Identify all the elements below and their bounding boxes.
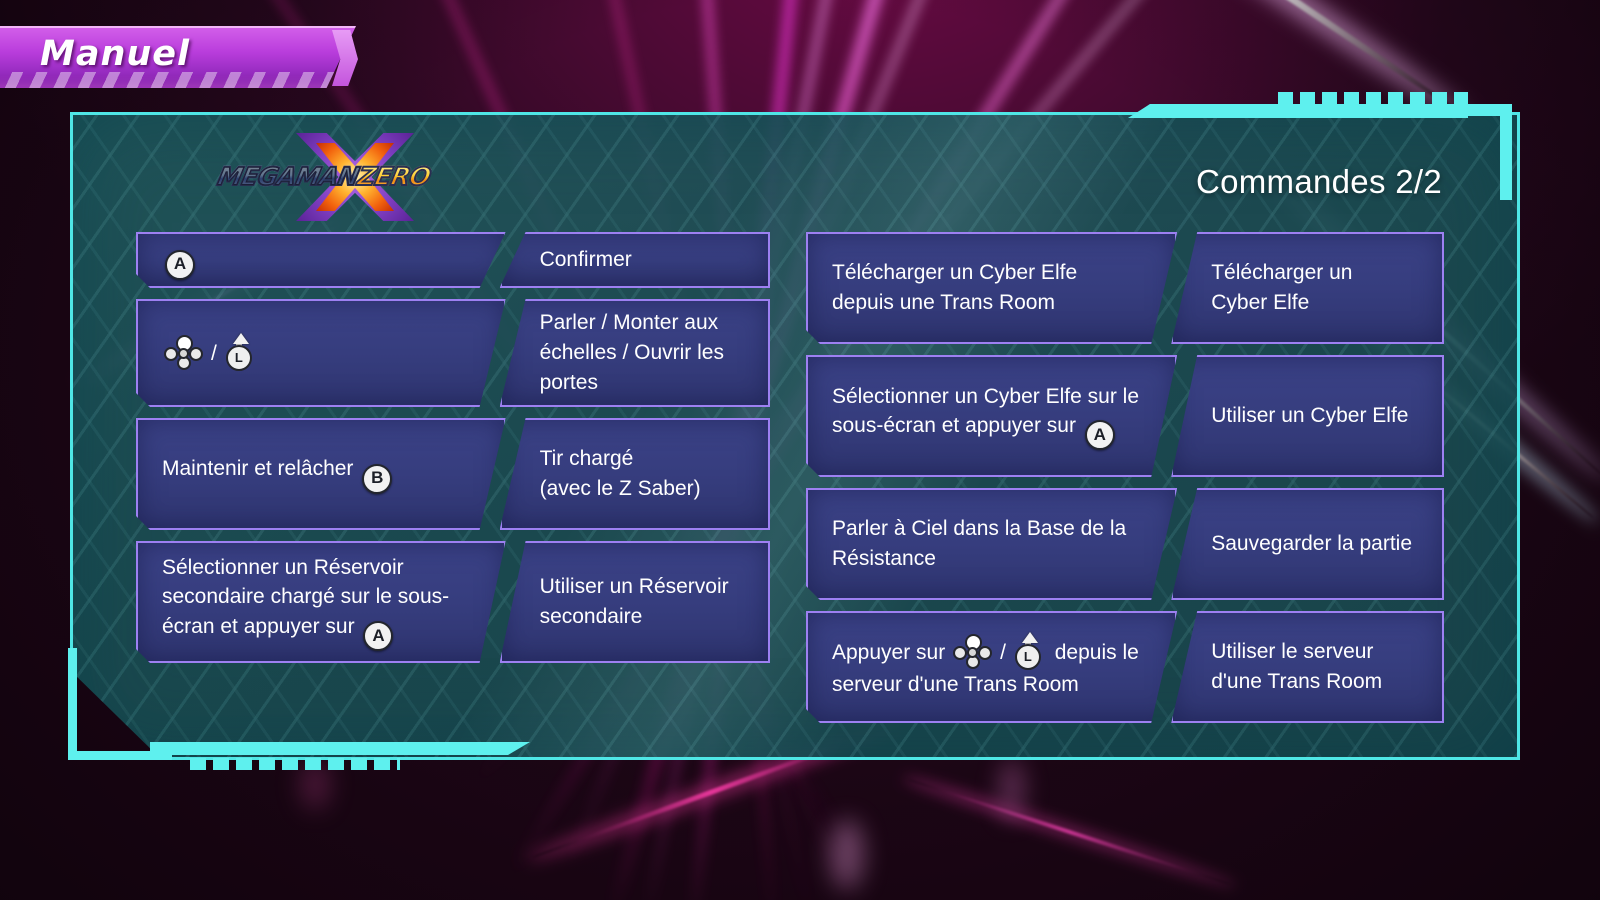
command-action-cell-charged-shot[interactable]: Tir chargé (avec le Z Saber) bbox=[500, 418, 770, 530]
command-action-cell-confirm[interactable]: Confirmer bbox=[500, 232, 770, 288]
slash-separator: / bbox=[1000, 641, 1006, 664]
command-action-text: Sauvegarder la partie bbox=[1211, 529, 1412, 559]
commands-column-right: Télécharger un Cyber Elfe depuis une Tra… bbox=[806, 232, 1444, 734]
command-input-cell-trans-server[interactable]: Appuyer sur /L depuis le serveur d'une T… bbox=[806, 611, 1177, 723]
command-action-text: Utiliser un Cyber Elfe bbox=[1211, 401, 1408, 431]
deco-arm bbox=[1454, 104, 1512, 200]
command-row: Parler à Ciel dans la Base de la Résista… bbox=[806, 488, 1444, 600]
command-action-text: Utiliser le serveur d'une Trans Room bbox=[1211, 637, 1382, 697]
command-action-text: Confirmer bbox=[540, 245, 632, 275]
megaman-zero-logo: MEGAMANZERO bbox=[208, 133, 424, 221]
command-input-text: Parler à Ciel dans la Base de la Résista… bbox=[832, 514, 1141, 574]
a-button-icon: A bbox=[1085, 420, 1115, 450]
logo-word-zero: ZERO bbox=[354, 159, 433, 195]
command-action-text: Utiliser un Réservoir secondaire bbox=[540, 572, 744, 632]
page-title-banner-label: Manuel bbox=[40, 34, 190, 74]
command-input-cell-talk-climb-open[interactable]: /L bbox=[136, 299, 506, 407]
command-input-text: Appuyer sur /L depuis le serveur d'une T… bbox=[832, 634, 1141, 700]
command-row: AConfirmer bbox=[136, 232, 770, 288]
command-action-text: Parler / Monter aux échelles / Ouvrir le… bbox=[540, 308, 744, 397]
command-input-cell-sub-tank[interactable]: Sélectionner un Réservoir secondaire cha… bbox=[136, 541, 506, 663]
deco-dashes-icon bbox=[1278, 92, 1468, 104]
page-title: Commandes 2/2 bbox=[1196, 163, 1442, 201]
command-row: Appuyer sur /L depuis le serveur d'une T… bbox=[806, 611, 1444, 723]
command-input-text: Télécharger un Cyber Elfe depuis une Tra… bbox=[832, 258, 1141, 318]
command-action-cell-talk-climb-open[interactable]: Parler / Monter aux échelles / Ouvrir le… bbox=[500, 299, 770, 407]
b-button-icon: B bbox=[362, 464, 392, 494]
command-row: /LParler / Monter aux échelles / Ouvrir … bbox=[136, 299, 770, 407]
command-row: Télécharger un Cyber Elfe depuis une Tra… bbox=[806, 232, 1444, 344]
a-button-icon: A bbox=[363, 621, 393, 651]
command-input-cell-save-game[interactable]: Parler à Ciel dans la Base de la Résista… bbox=[806, 488, 1177, 600]
command-input-text: Maintenir et relâcher B bbox=[162, 454, 395, 493]
a-button-icon: A bbox=[165, 250, 195, 280]
command-row: Sélectionner un Réservoir secondaire cha… bbox=[136, 541, 770, 663]
logo-word-megaman: MEGAMAN bbox=[214, 159, 362, 195]
command-action-cell-use-cyber-elf[interactable]: Utiliser un Cyber Elfe bbox=[1171, 355, 1444, 477]
command-input-cell-charged-shot[interactable]: Maintenir et relâcher B bbox=[136, 418, 506, 530]
command-input-text: A bbox=[162, 240, 198, 279]
left-stick-up-icon: L bbox=[1013, 634, 1047, 670]
command-action-text: Télécharger un Cyber Elfe bbox=[1211, 258, 1352, 318]
dpad-up-icon bbox=[953, 635, 993, 669]
logo-wordmark: MEGAMANZERO bbox=[214, 159, 422, 195]
command-action-cell-sub-tank[interactable]: Utiliser un Réservoir secondaire bbox=[500, 541, 770, 663]
command-action-cell-trans-server[interactable]: Utiliser le serveur d'une Trans Room bbox=[1171, 611, 1444, 723]
command-input-text: Sélectionner un Réservoir secondaire cha… bbox=[162, 553, 470, 652]
left-stick-up-icon: L bbox=[224, 335, 258, 371]
command-input-cell-confirm[interactable]: A bbox=[136, 232, 506, 288]
command-input-cell-use-cyber-elf[interactable]: Sélectionner un Cyber Elfe sur le sous-é… bbox=[806, 355, 1177, 477]
command-row: Maintenir et relâcher BTir chargé (avec … bbox=[136, 418, 770, 530]
dpad-up-icon bbox=[164, 336, 204, 370]
command-row: Sélectionner un Cyber Elfe sur le sous-é… bbox=[806, 355, 1444, 477]
command-input-text: Sélectionner un Cyber Elfe sur le sous-é… bbox=[832, 382, 1141, 451]
commands-column-left: AConfirmer/LParler / Monter aux échelles… bbox=[136, 232, 770, 674]
slash-separator: / bbox=[211, 342, 217, 365]
deco-bar bbox=[1128, 104, 1468, 118]
panel-bottom-decoration bbox=[150, 742, 570, 776]
command-action-text: Tir chargé (avec le Z Saber) bbox=[540, 444, 701, 504]
command-input-text: /L bbox=[162, 335, 260, 371]
deco-dashes-icon bbox=[190, 758, 400, 770]
command-action-cell-save-game[interactable]: Sauvegarder la partie bbox=[1171, 488, 1444, 600]
deco-bar bbox=[150, 742, 530, 755]
command-input-cell-download-cyber-elf[interactable]: Télécharger un Cyber Elfe depuis une Tra… bbox=[806, 232, 1177, 344]
command-action-cell-download-cyber-elf[interactable]: Télécharger un Cyber Elfe bbox=[1171, 232, 1444, 344]
